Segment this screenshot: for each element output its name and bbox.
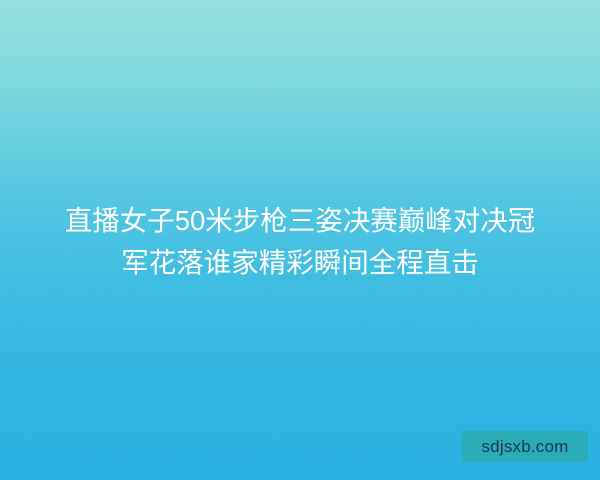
page-title: 直播女子50米步枪三姿决赛巅峰对决冠 军花落谁家精彩瞬间全程直击 (0, 200, 600, 284)
image-canvas: 直播女子50米步枪三姿决赛巅峰对决冠 军花落谁家精彩瞬间全程直击 sdjsxb.… (0, 0, 600, 480)
page-title-line-1: 直播女子50米步枪三姿决赛巅峰对决冠 (0, 200, 600, 242)
page-title-line-2: 军花落谁家精彩瞬间全程直击 (0, 242, 600, 284)
watermark-text: sdjsxb.com (481, 438, 568, 455)
watermark-badge: sdjsxb.com (462, 431, 588, 462)
